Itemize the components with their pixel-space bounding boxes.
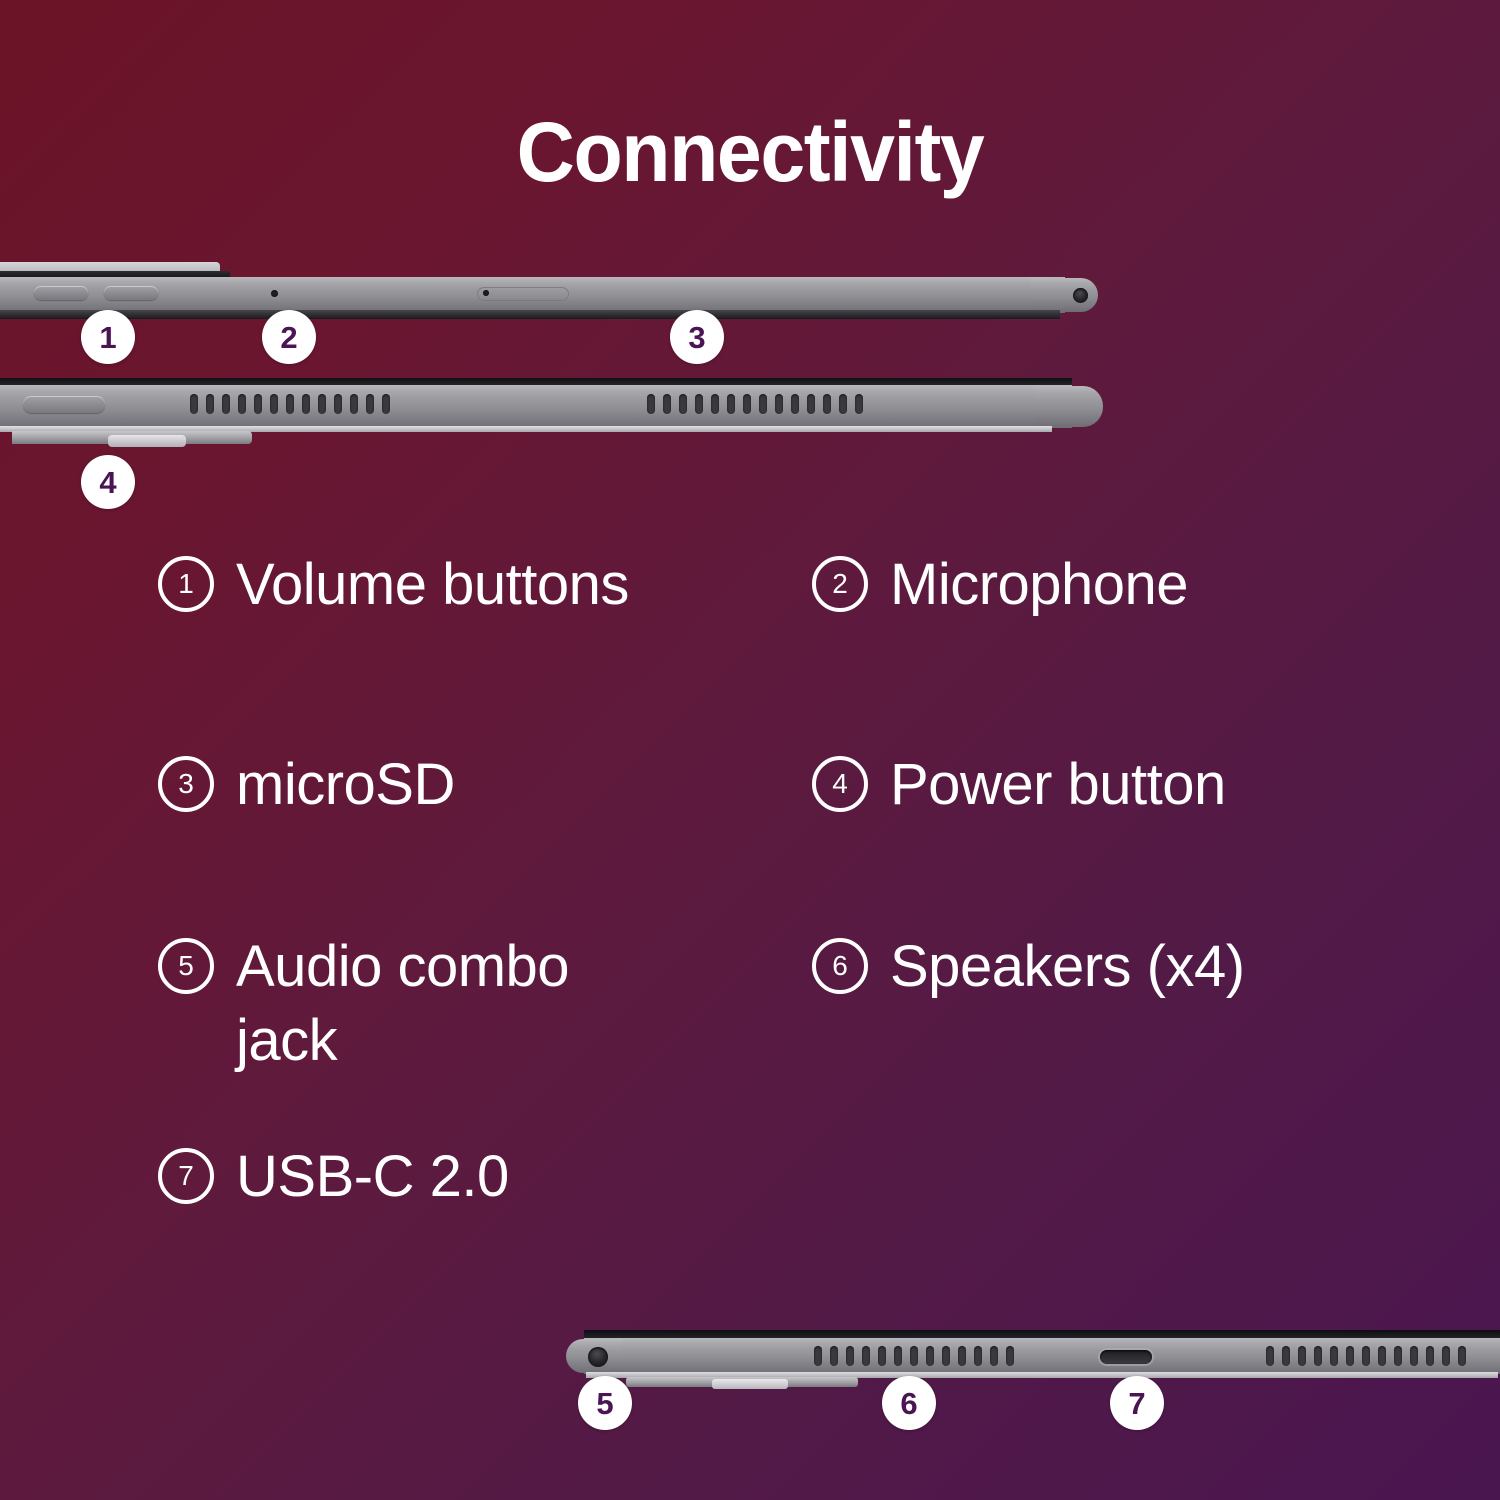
legend-item-6: 6 Speakers (x4) xyxy=(812,930,1245,1004)
page-title: Connectivity xyxy=(30,104,1470,201)
volume-up-button xyxy=(34,286,88,300)
legend-item-5: 5 Audio combo jack xyxy=(158,930,569,1078)
legend-label-1: Volume buttons xyxy=(236,548,629,622)
legend-label-6: Speakers (x4) xyxy=(890,930,1245,1004)
legend-item-4: 4 Power button xyxy=(812,748,1226,822)
legend-ring-3: 3 xyxy=(158,756,214,812)
infographic-canvas: Connectivity 1 2 3 xyxy=(0,0,1500,1500)
callout-badge-3: 3 xyxy=(670,310,724,364)
legend-item-2: 2 Microphone xyxy=(812,548,1188,622)
accessory-magnet-contact xyxy=(108,435,186,447)
legend-label-3: microSD xyxy=(236,748,455,822)
legend-ring-5: 5 xyxy=(158,938,214,994)
microphone-pinhole xyxy=(271,290,278,297)
device-bottom-side-profile xyxy=(566,1330,1500,1400)
usb-c-port xyxy=(1100,1350,1152,1364)
speaker-grille-left xyxy=(190,394,390,414)
legend-ring-4: 4 xyxy=(812,756,868,812)
microsd-tray-pinhole xyxy=(483,290,489,296)
legend-ring-6: 6 xyxy=(812,938,868,994)
callout-badge-5: 5 xyxy=(578,1376,632,1430)
device-middle-right-tip xyxy=(1035,386,1103,427)
device-middle-body xyxy=(0,385,1072,428)
speaker-grille-bottom-left xyxy=(814,1346,1014,1366)
legend-ring-2: 2 xyxy=(812,556,868,612)
speaker-grille-bottom-right xyxy=(1266,1346,1466,1366)
callout-badge-2: 2 xyxy=(262,310,316,364)
legend-ring-1: 1 xyxy=(158,556,214,612)
callout-badge-6: 6 xyxy=(882,1376,936,1430)
volume-down-button xyxy=(104,286,158,300)
microsd-tray-outline xyxy=(477,287,569,301)
device-top-bottom-shadow xyxy=(0,310,1060,319)
legend-item-7: 7 USB-C 2.0 xyxy=(158,1140,509,1214)
speaker-grille-right xyxy=(647,394,863,414)
legend-ring-7: 7 xyxy=(158,1148,214,1204)
legend-label-5: Audio combo jack xyxy=(236,930,569,1078)
device-middle-side-profile xyxy=(0,378,1100,448)
callout-badge-7: 7 xyxy=(1110,1376,1164,1430)
legend-label-2: Microphone xyxy=(890,548,1188,622)
legend-item-3: 3 microSD xyxy=(158,748,455,822)
power-button xyxy=(23,396,105,413)
device-top-side-profile xyxy=(0,262,1100,322)
accessory-magnet-contact-bottom xyxy=(712,1379,788,1389)
legend-label-4: Power button xyxy=(890,748,1226,822)
legend-item-1: 1 Volume buttons xyxy=(158,548,629,622)
audio-combo-jack-hole xyxy=(588,1347,608,1367)
callout-badge-1: 1 xyxy=(81,310,135,364)
callout-badge-4: 4 xyxy=(81,455,135,509)
legend-label-7: USB-C 2.0 xyxy=(236,1140,509,1214)
device-top-jack-hole xyxy=(1073,288,1088,303)
